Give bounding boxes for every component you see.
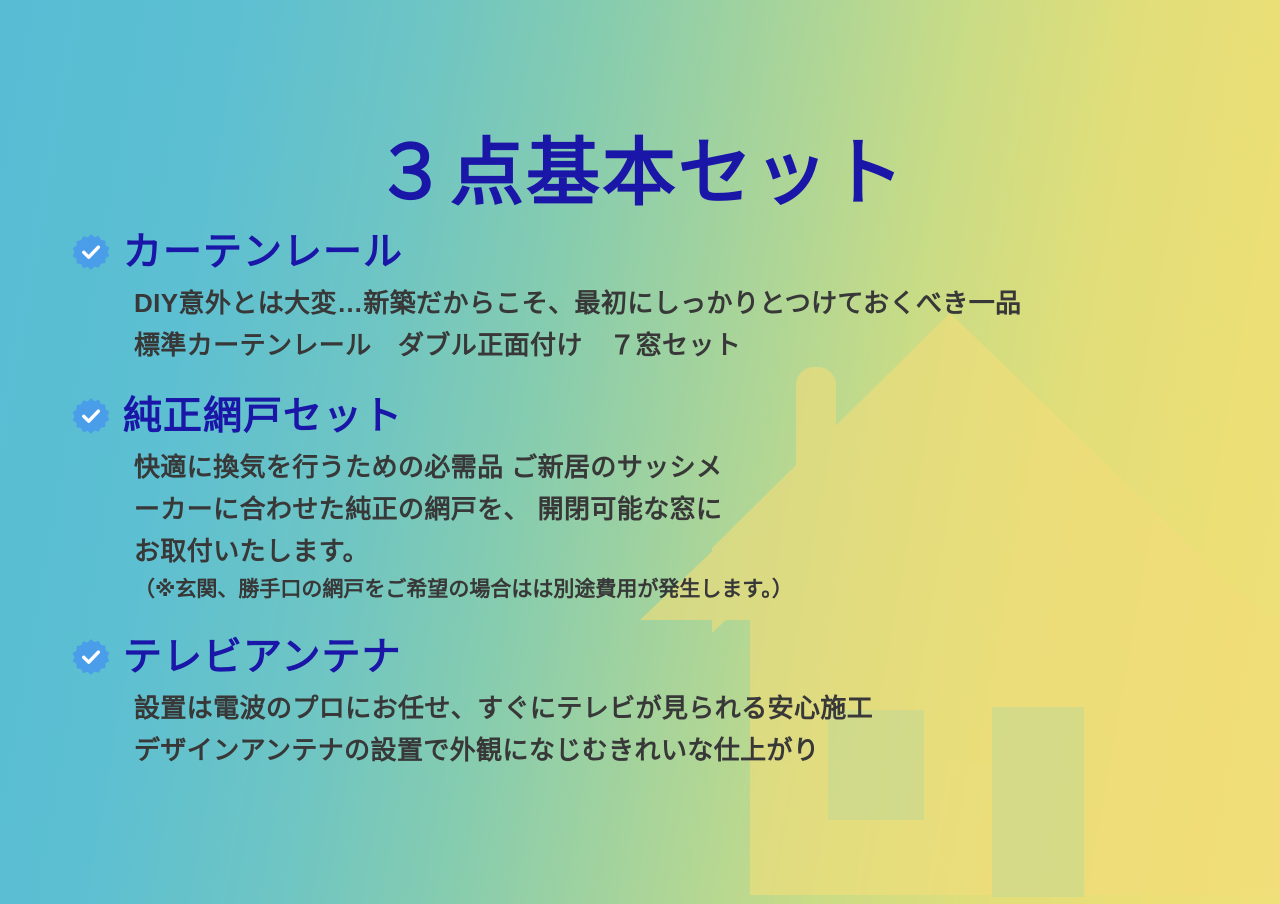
feature-line: DIY意外とは大変…新築だからこそ、最初にしっかりとつけておくべき一品 [134,282,1252,324]
feature-line: デザインアンテナの設置で外観になじむきれいな仕上がり [134,729,1252,771]
check-badge-icon [72,638,110,676]
feature-line: ーカーに合わせた純正の網戸を、 開閉可能な窓に [134,488,1252,530]
promotional-poster: ３点基本セット カーテンレール DIY意外とは大変…新築だからこそ、最初にしっか… [0,0,1280,904]
page-title: ３点基本セット [0,136,1280,210]
feature-title: テレビアンテナ [123,638,401,677]
feature-heading: カーテンレール [72,226,1252,278]
feature-note: （※玄関、勝手口の網戸をご希望の場合はは別途費用が発生します。） [134,572,1252,608]
feature-block-curtain-rail: カーテンレール DIY意外とは大変…新築だからこそ、最初にしっかりとつけておくべ… [72,226,1252,366]
feature-line: 標準カーテンレール ダブル正面付け ７窓セット [134,324,1252,366]
feature-line: 快適に換気を行うための必需品 ご新居のサッシメ [134,446,1252,488]
feature-heading: 純正網戸セット [72,390,1252,442]
feature-description: 快適に換気を行うための必需品 ご新居のサッシメ ーカーに合わせた純正の網戸を、 … [134,446,1252,608]
feature-heading: テレビアンテナ [72,631,1252,683]
feature-block-screen-door: 純正網戸セット 快適に換気を行うための必需品 ご新居のサッシメ ーカーに合わせた… [72,390,1252,608]
feature-line: 設置は電波のプロにお任せ、すぐにテレビが見られる安心施工 [134,687,1252,729]
feature-block-tv-antenna: テレビアンテナ 設置は電波のプロにお任せ、すぐにテレビが見られる安心施工 デザイ… [72,631,1252,771]
check-badge-icon [72,233,110,271]
feature-description: 設置は電波のプロにお任せ、すぐにテレビが見られる安心施工 デザインアンテナの設置… [134,687,1252,771]
poster-content: ３点基本セット カーテンレール DIY意外とは大変…新築だからこそ、最初にしっか… [0,0,1280,904]
feature-line: お取付いたします。 [134,530,1252,572]
feature-title: カーテンレール [123,233,403,272]
feature-title: 純正網戸セット [123,397,403,436]
feature-description: DIY意外とは大変…新築だからこそ、最初にしっかりとつけておくべき一品 標準カー… [134,282,1252,366]
check-badge-icon [72,397,110,435]
